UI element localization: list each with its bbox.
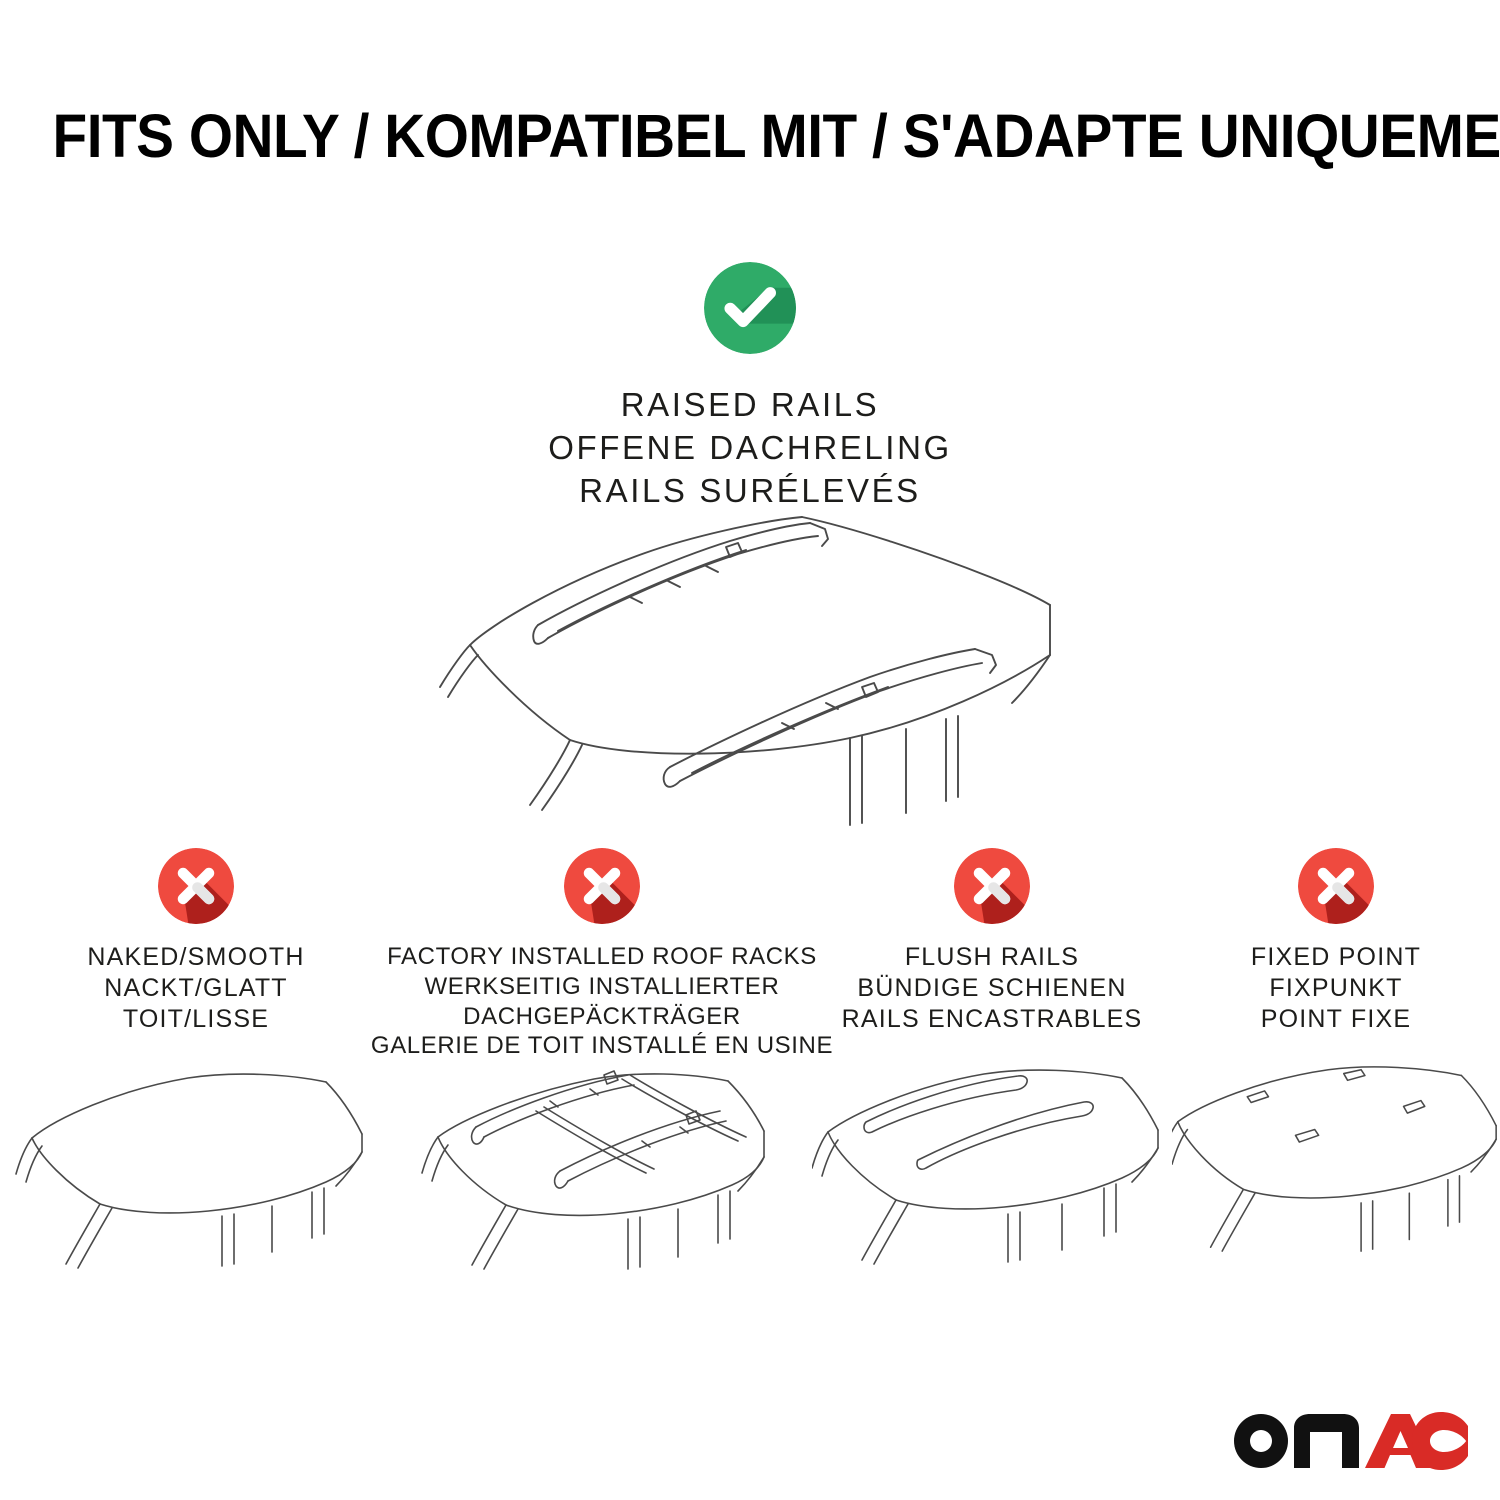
rejected-item-fixed-point: FIXED POINT FIXPUNKT POINT FIXE bbox=[1172, 848, 1500, 1286]
x-circle-icon bbox=[954, 848, 1030, 924]
rejected-section: NAKED/SMOOTH NACKT/GLATT TOIT/LISSE bbox=[0, 848, 1500, 1297]
rejected-item-flush-rails: FLUSH RAILS BÜNDIGE SCHIENEN RAILS ENCAS… bbox=[812, 848, 1172, 1286]
x-circle-icon bbox=[564, 848, 640, 924]
rejected-labels: FLUSH RAILS BÜNDIGE SCHIENEN RAILS ENCAS… bbox=[842, 942, 1143, 1050]
car-roof-with-raised-rails-illustration bbox=[430, 505, 1090, 835]
rejected-label-fr: RAILS ENCASTRABLES bbox=[842, 1004, 1143, 1035]
car-roof-naked-smooth-illustration bbox=[0, 1056, 392, 1286]
car-roof-flush-rails-illustration bbox=[812, 1056, 1172, 1286]
approved-labels: RAISED RAILS OFFENE DACHRELING RAILS SUR… bbox=[548, 384, 952, 513]
omac-logo bbox=[1230, 1408, 1468, 1470]
rejected-label-fr: TOIT/LISSE bbox=[87, 1004, 304, 1035]
approved-section: RAISED RAILS OFFENE DACHRELING RAILS SUR… bbox=[0, 262, 1500, 513]
rejected-label-en: FIXED POINT bbox=[1251, 942, 1421, 973]
check-circle-icon bbox=[704, 262, 796, 354]
rejected-label-de: NACKT/GLATT bbox=[87, 973, 304, 1004]
rejected-label-fr: POINT FIXE bbox=[1251, 1004, 1421, 1035]
rejected-item-naked-smooth: NAKED/SMOOTH NACKT/GLATT TOIT/LISSE bbox=[0, 848, 392, 1286]
rejected-label-de-1: WERKSEITIG INSTALLIERTER bbox=[371, 972, 833, 1002]
car-roof-fixed-point-illustration bbox=[1172, 1056, 1500, 1286]
rejected-labels: FACTORY INSTALLED ROOF RACKS WERKSEITIG … bbox=[371, 942, 833, 1061]
approved-label-en: RAISED RAILS bbox=[548, 384, 952, 427]
approved-label-de: OFFENE DACHRELING bbox=[548, 427, 952, 470]
x-circle-icon bbox=[1298, 848, 1374, 924]
page-title: FITS ONLY / KOMPATIBEL MIT / S'ADAPTE UN… bbox=[53, 104, 1448, 168]
rejected-label-fr: GALERIE DE TOIT INSTALLÉ EN USINE bbox=[371, 1031, 833, 1061]
rejected-labels: FIXED POINT FIXPUNKT POINT FIXE bbox=[1251, 942, 1421, 1050]
rejected-label-de: BÜNDIGE SCHIENEN bbox=[842, 973, 1143, 1004]
rejected-label-de-2: DACHGEPÄCKTRÄGER bbox=[371, 1002, 833, 1032]
car-roof-factory-installed-racks-illustration bbox=[392, 1067, 812, 1297]
rejected-label-en: FLUSH RAILS bbox=[842, 942, 1143, 973]
rejected-item-factory-racks: FACTORY INSTALLED ROOF RACKS WERKSEITIG … bbox=[392, 848, 812, 1297]
rejected-label-en: NAKED/SMOOTH bbox=[87, 942, 304, 973]
rejected-label-en: FACTORY INSTALLED ROOF RACKS bbox=[371, 942, 833, 972]
page-header: FITS ONLY / KOMPATIBEL MIT / S'ADAPTE UN… bbox=[0, 104, 1500, 168]
rejected-labels: NAKED/SMOOTH NACKT/GLATT TOIT/LISSE bbox=[87, 942, 304, 1050]
rejected-label-de: FIXPUNKT bbox=[1251, 973, 1421, 1004]
x-circle-icon bbox=[158, 848, 234, 924]
